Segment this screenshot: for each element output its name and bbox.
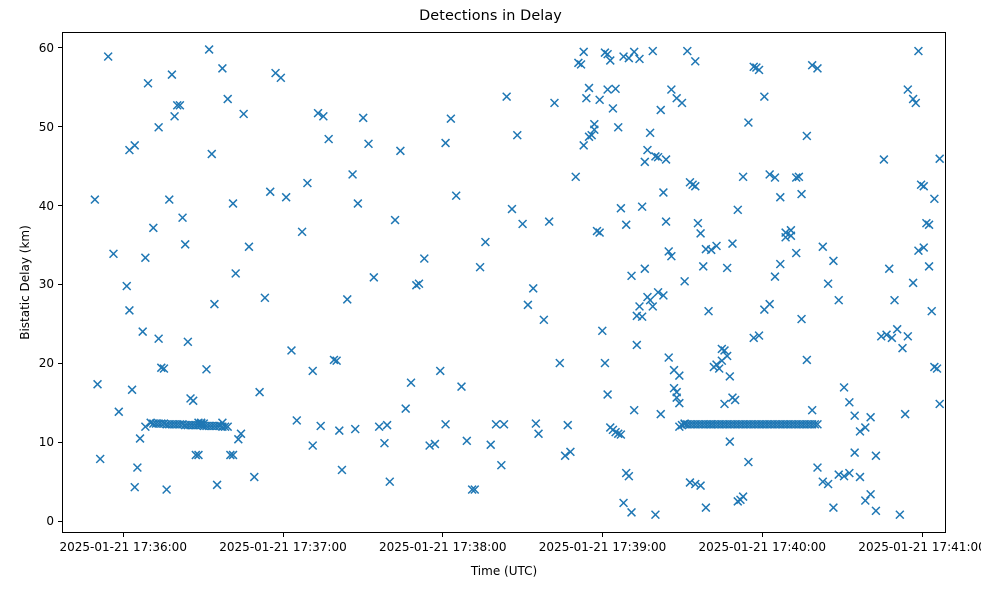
scatter-marker: [646, 129, 654, 137]
scatter-marker: [691, 182, 699, 190]
scatter-marker: [678, 99, 686, 107]
scatter-marker: [612, 85, 620, 93]
x-tick-mark: [762, 533, 763, 537]
scatter-marker: [880, 156, 888, 164]
scatter-marker: [891, 296, 899, 304]
scatter-marker: [128, 386, 136, 394]
scatter-marker: [205, 46, 213, 54]
scatter-marker: [203, 365, 211, 373]
scatter-marker: [564, 421, 572, 429]
scatter-marker: [125, 306, 133, 314]
scatter-marker: [245, 243, 253, 251]
scatter-marker: [808, 406, 816, 414]
scatter-marker: [189, 397, 197, 405]
scatter-marker: [303, 179, 311, 187]
scatter-marker: [936, 400, 944, 408]
scatter-marker: [691, 57, 699, 65]
scatter-marker: [694, 219, 702, 227]
scatter-marker: [651, 511, 659, 519]
scatter-marker: [309, 442, 317, 450]
scatter-marker: [144, 79, 152, 87]
scatter-marker: [798, 315, 806, 323]
scatter-marker: [744, 119, 752, 127]
scatter-marker: [851, 412, 859, 420]
scatter-marker: [540, 316, 548, 324]
x-tick-label: 2025-01-21 17:38:00: [379, 541, 506, 553]
scatter-marker: [104, 53, 112, 61]
scatter-marker: [798, 190, 806, 198]
scatter-marker: [447, 115, 455, 123]
scatter-marker: [601, 49, 609, 57]
scatter-marker: [351, 425, 359, 433]
scatter-marker: [370, 273, 378, 281]
scatter-marker: [930, 195, 938, 203]
scatter-marker: [532, 420, 540, 428]
scatter-marker: [325, 135, 333, 143]
scatter-marker: [824, 280, 832, 288]
scatter-marker: [702, 504, 710, 512]
scatter-marker: [141, 254, 149, 262]
scatter-marker: [803, 132, 811, 140]
scatter-marker: [641, 265, 649, 273]
scatter-marker: [856, 427, 864, 435]
scatter-marker: [689, 181, 697, 189]
scatter-marker: [760, 93, 768, 101]
scatter-marker: [566, 448, 574, 456]
scatter-marker: [776, 260, 784, 268]
scatter-marker: [933, 365, 941, 373]
scatter-marker: [420, 255, 428, 263]
plot-axes: [62, 32, 946, 533]
scatter-marker: [133, 464, 141, 472]
scatter-marker: [614, 123, 622, 131]
x-tick-mark: [602, 533, 603, 537]
scatter-marker: [601, 359, 609, 367]
scatter-marker: [920, 182, 928, 190]
scatter-marker: [593, 227, 601, 235]
scatter-marker: [213, 481, 221, 489]
scatter-marker: [335, 427, 343, 435]
scatter-marker: [893, 325, 901, 333]
scatter-marker: [487, 441, 495, 449]
scatter-marker: [436, 367, 444, 375]
scatter-marker: [630, 406, 638, 414]
scatter-marker: [675, 372, 683, 380]
scatter-marker: [872, 452, 880, 460]
scatter-marker: [535, 430, 543, 438]
scatter-marker: [96, 455, 104, 463]
scatter-marker: [338, 466, 346, 474]
scatter-marker: [681, 277, 689, 285]
scatter-marker: [638, 313, 646, 321]
scatter-marker: [240, 110, 248, 118]
scatter-marker: [123, 282, 131, 290]
scatter-marker: [343, 295, 351, 303]
scatter-marker: [657, 106, 665, 114]
scatter-marker: [210, 300, 218, 308]
x-axis-label: Time (UTC): [62, 564, 946, 578]
scatter-marker: [256, 388, 264, 396]
scatter-marker: [503, 93, 511, 101]
scatter-marker: [930, 363, 938, 371]
scatter-marker: [628, 508, 636, 516]
scatter-marker: [476, 263, 484, 271]
scatter-marker: [492, 420, 500, 428]
scatter-marker: [604, 86, 612, 94]
scatter-marker: [529, 284, 537, 292]
scatter-marker: [293, 416, 301, 424]
scatter-marker: [705, 307, 713, 315]
scatter-marker: [266, 188, 274, 196]
scatter-marker: [667, 86, 675, 94]
scatter-marker: [928, 307, 936, 315]
scatter-marker: [622, 221, 630, 229]
scatter-marker: [442, 139, 450, 147]
scatter-marker: [572, 173, 580, 181]
scatter-marker: [171, 112, 179, 120]
scatter-marker: [917, 181, 925, 189]
scatter-marker: [617, 204, 625, 212]
scatter-marker: [288, 347, 296, 355]
scatter-marker: [936, 155, 944, 163]
scatter-marker: [670, 384, 678, 392]
scatter-marker: [835, 296, 843, 304]
scatter-marker: [229, 200, 237, 208]
x-tick-mark: [283, 533, 284, 537]
scatter-marker: [91, 196, 99, 204]
scatter-marker: [141, 423, 149, 431]
scatter-marker: [375, 423, 383, 431]
scatter-marker: [585, 84, 593, 92]
scatter-marker: [904, 86, 912, 94]
scatter-marker: [641, 158, 649, 166]
scatter-marker: [649, 47, 657, 55]
scatter-marker: [609, 105, 617, 113]
scatter-marker: [155, 123, 163, 131]
scatter-marker: [508, 205, 516, 213]
scatter-marker: [412, 281, 420, 289]
scatter-marker: [914, 47, 922, 55]
scatter-marker: [899, 344, 907, 352]
chart-title: Detections in Delay: [0, 8, 981, 24]
scatter-marker: [718, 357, 726, 365]
scatter-marker: [739, 173, 747, 181]
scatter-marker: [744, 458, 752, 466]
scatter-marker: [662, 218, 670, 226]
scatter-marker: [867, 490, 875, 498]
y-tick-label: 40: [8, 200, 54, 212]
scatter-marker: [901, 410, 909, 418]
scatter-marker: [184, 338, 192, 346]
scatter-marker: [519, 220, 527, 228]
scatter-marker: [707, 246, 715, 254]
scatter-marker: [179, 214, 187, 222]
scatter-marker: [665, 354, 673, 362]
scatter-marker: [224, 95, 232, 103]
scatter-marker: [168, 71, 176, 79]
scatter-marker: [402, 405, 410, 413]
scatter-marker: [723, 264, 731, 272]
scatter-marker: [136, 435, 144, 443]
x-tick-label: 2025-01-21 17:36:00: [60, 541, 187, 553]
y-tick-label: 30: [8, 278, 54, 290]
scatter-marker: [636, 303, 644, 311]
scatter-marker: [598, 327, 606, 335]
scatter-marker: [872, 507, 880, 515]
scatter-marker: [386, 478, 394, 486]
scatter-marker: [771, 273, 779, 281]
scatter-marker: [317, 422, 325, 430]
scatter-marker: [582, 94, 590, 102]
scatter-marker: [580, 48, 588, 56]
scatter-marker: [819, 243, 827, 251]
scatter-marker: [729, 240, 737, 248]
scatter-marker: [218, 64, 226, 72]
scatter-marker: [625, 472, 633, 480]
scatter-marker: [250, 473, 258, 481]
scatter-marker: [277, 74, 285, 82]
scatter-marker: [155, 335, 163, 343]
scatter-marker: [383, 421, 391, 429]
scatter-marker: [731, 396, 739, 404]
y-tick-label: 60: [8, 42, 54, 54]
scatter-marker: [149, 224, 157, 232]
scatter-marker: [415, 280, 423, 288]
scatter-marker: [885, 265, 893, 273]
scatter-marker: [208, 150, 216, 158]
scatter-marker: [232, 270, 240, 278]
scatter-marker: [94, 380, 102, 388]
scatter-marker: [349, 171, 357, 179]
scatter-marker: [458, 383, 466, 391]
scatter-marker: [861, 424, 869, 432]
scatter-marker: [638, 203, 646, 211]
scatter-marker: [551, 99, 559, 107]
scatter-marker: [896, 511, 904, 519]
scatter-marker: [803, 356, 811, 364]
figure-canvas: Detections in Delay Bistatic Delay (km) …: [0, 0, 981, 590]
scatter-marker: [452, 192, 460, 200]
scatter-marker: [163, 486, 171, 494]
scatter-marker: [904, 332, 912, 340]
scatter-marker: [181, 240, 189, 248]
scatter-marker: [922, 219, 930, 227]
scatter-marker: [585, 133, 593, 141]
scatter-marker: [545, 218, 553, 226]
scatter-marker: [261, 294, 269, 302]
scatter-marker: [713, 242, 721, 250]
scatter-marker: [814, 464, 822, 472]
scatter-marker: [309, 367, 317, 375]
scatter-marker: [596, 229, 604, 237]
scatter-marker: [867, 413, 875, 421]
scatter-marker: [381, 439, 389, 447]
y-tick-label: 0: [8, 515, 54, 527]
scatter-marker: [110, 250, 118, 258]
scatter-marker: [365, 140, 373, 148]
scatter-marker: [909, 95, 917, 103]
scatter-marker: [792, 249, 800, 257]
scatter-marker: [604, 391, 612, 399]
scatter-marker: [354, 200, 362, 208]
y-tick-label: 50: [8, 121, 54, 133]
x-tick-label: 2025-01-21 17:37:00: [219, 541, 346, 553]
scatter-marker: [721, 400, 729, 408]
scatter-marker: [726, 438, 734, 446]
scatter-marker: [577, 60, 585, 68]
scatter-marker: [856, 473, 864, 481]
scatter-marker: [925, 262, 933, 270]
scatter-marker: [396, 147, 404, 155]
scatter-marker: [659, 189, 667, 197]
scatter-marker: [165, 196, 173, 204]
scatter-marker: [139, 328, 147, 336]
scatter-marker: [596, 96, 604, 104]
scatter-marker: [829, 257, 837, 265]
scatter-marker: [840, 383, 848, 391]
scatter-marker: [912, 99, 920, 107]
scatter-marker: [909, 279, 917, 287]
scatter-marker: [524, 301, 532, 309]
scatter-series-detections: [91, 46, 944, 519]
scatter-marker: [673, 388, 681, 396]
scatter-marker: [574, 59, 582, 67]
x-tick-label: 2025-01-21 17:40:00: [699, 541, 826, 553]
scatter-marker: [776, 193, 784, 201]
scatter-marker: [442, 420, 450, 428]
scatter-marker: [282, 193, 290, 201]
scatter-marker: [481, 238, 489, 246]
scatter-marker: [739, 493, 747, 501]
x-tick-mark: [442, 533, 443, 537]
scatter-marker: [829, 504, 837, 512]
scatter-marker: [734, 206, 742, 214]
scatter-marker: [513, 131, 521, 139]
scatter-marker: [556, 359, 564, 367]
scatter-marker: [298, 228, 306, 236]
x-tick-mark: [123, 533, 124, 537]
scatter-marker: [620, 499, 628, 507]
scatter-marker: [497, 461, 505, 469]
scatter-marker: [628, 272, 636, 280]
x-tick-label: 2025-01-21 17:41:00: [858, 541, 981, 553]
scatter-marker: [131, 141, 139, 149]
scatter-marker: [391, 216, 399, 224]
scatter-marker: [359, 114, 367, 122]
scatter-marker: [657, 410, 665, 418]
scatter-marker: [131, 483, 139, 491]
scatter-marker: [630, 48, 638, 56]
scatter-marker: [500, 420, 508, 428]
scatter-marker: [590, 120, 598, 128]
scatter-plot-area: [63, 33, 945, 532]
scatter-marker: [851, 449, 859, 457]
scatter-marker: [580, 141, 588, 149]
scatter-marker: [662, 156, 670, 164]
scatter-marker: [115, 408, 123, 416]
x-tick-label: 2025-01-21 17:39:00: [539, 541, 666, 553]
scatter-marker: [845, 398, 853, 406]
scatter-marker: [683, 47, 691, 55]
scatter-marker: [636, 55, 644, 63]
scatter-marker: [718, 345, 726, 353]
scatter-marker: [925, 221, 933, 229]
y-tick-label: 20: [8, 357, 54, 369]
scatter-marker: [561, 452, 569, 460]
scatter-marker: [407, 379, 415, 387]
scatter-marker: [697, 229, 705, 237]
scatter-marker: [644, 146, 652, 154]
scatter-marker: [463, 437, 471, 445]
x-tick-mark: [922, 533, 923, 537]
scatter-marker: [633, 341, 641, 349]
scatter-marker: [766, 300, 774, 308]
scatter-marker: [726, 372, 734, 380]
y-tick-label: 10: [8, 436, 54, 448]
scatter-marker: [699, 262, 707, 270]
